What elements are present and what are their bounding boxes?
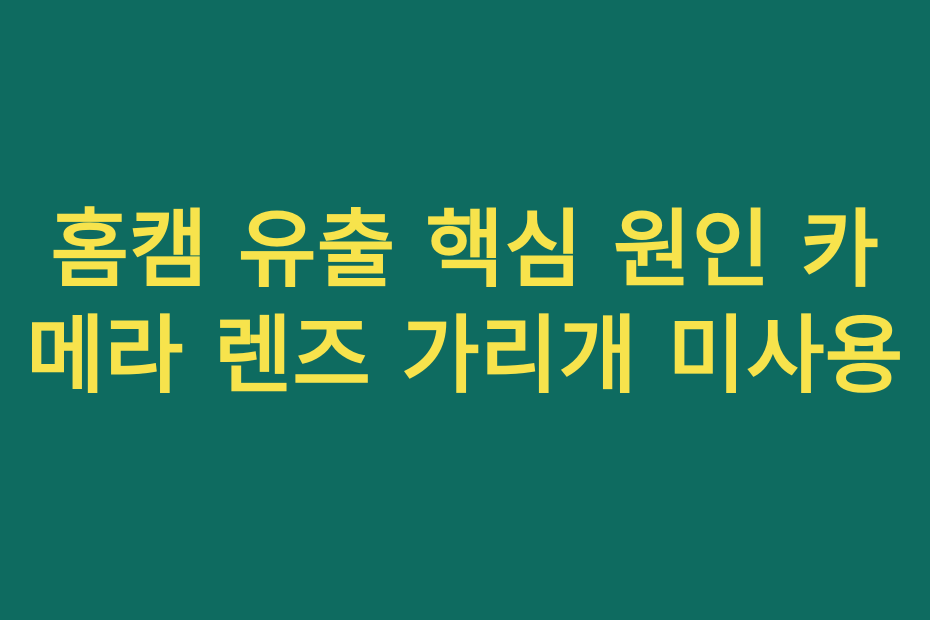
headline-line-2: 메라 렌즈 가리개 미사용	[26, 304, 903, 410]
headline-block: 홈캠 유출 핵심 원인 카 메라 렌즈 가리개 미사용	[35, 198, 895, 410]
thumbnail-card: 홈캠 유출 핵심 원인 카 메라 렌즈 가리개 미사용	[0, 0, 930, 620]
headline-line-1: 홈캠 유출 핵심 원인 카	[51, 198, 880, 304]
